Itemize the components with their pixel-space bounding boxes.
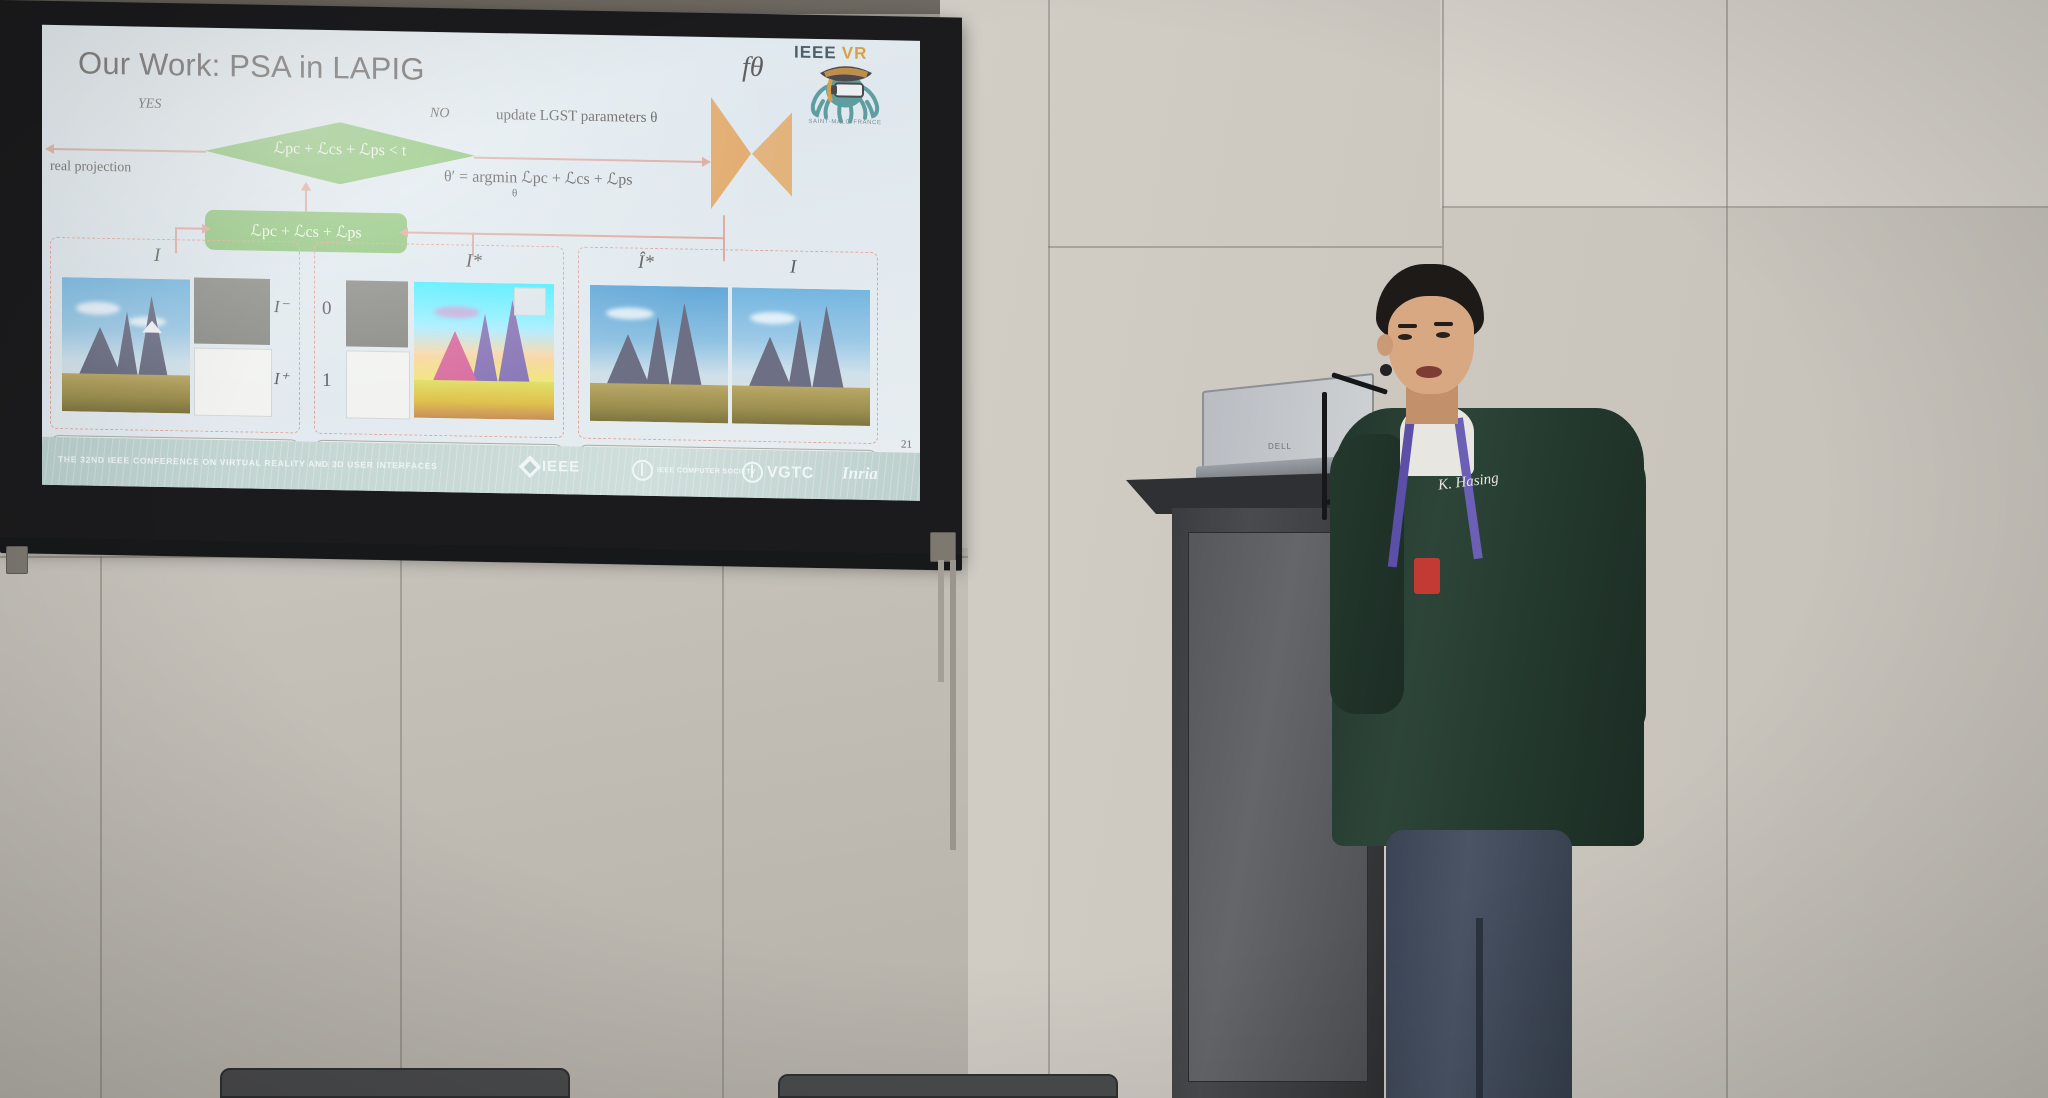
ref-foreground <box>732 385 870 426</box>
encoder-triangle-icon <box>711 97 751 210</box>
input-image-thumb <box>62 277 190 413</box>
screen-bracket-right <box>930 532 956 562</box>
presenter-arm-right <box>1566 438 1646 738</box>
autoencoder-glyph <box>711 97 793 211</box>
projection-label-zero: 0 <box>322 298 332 320</box>
wall-seam-l2 <box>400 552 402 1098</box>
wall-seam-3 <box>1726 0 1728 1098</box>
loss-to-diamond-head-icon <box>301 182 311 191</box>
presenter-arm-left <box>1330 434 1404 714</box>
objective-subscript: θ <box>512 187 517 199</box>
wall-seam-1 <box>1048 0 1050 1098</box>
wall-seam-l1 <box>100 556 102 1098</box>
conference-room-photo: Our Work: PSA in LAPIG IEEEVR <box>0 0 2048 1098</box>
no-branch-label: NO <box>430 106 449 122</box>
decision-condition-label: ℒpc + ℒcs + ℒps < t <box>205 137 475 162</box>
recon-image-thumb <box>590 285 728 424</box>
input-negative-mask <box>194 278 270 345</box>
sponsor-vgtc: VGTC <box>742 462 814 484</box>
panel-input-label-I: I <box>154 245 160 267</box>
presenter-mouth <box>1416 366 1442 378</box>
projection-inset-thumb <box>514 287 546 316</box>
yes-arrow-head-icon <box>45 144 54 154</box>
slide-canvas: Our Work: PSA in LAPIG IEEEVR <box>42 25 920 501</box>
decision-diamond: ℒpc + ℒcs + ℒps < t <box>205 120 475 187</box>
sponsor-inria-label: Inria <box>842 463 878 484</box>
no-arrow-head-icon <box>702 157 711 167</box>
computer-society-ring-icon <box>632 460 653 481</box>
presenter: K. Hasing <box>1330 258 1670 1098</box>
panel-recon-label-I: I <box>790 256 796 278</box>
panel-input-label-Ipos: I⁺ <box>274 369 289 389</box>
model-symbol-label: fθ <box>742 52 764 84</box>
yes-branch-label: YES <box>138 97 161 113</box>
sponsor-inria: Inria <box>842 463 878 484</box>
ieee-vr-logo: IEEEVR SAINT-MALO-FRANCE <box>786 42 904 126</box>
chair-right <box>778 1074 1118 1098</box>
yes-outcome-label: real projection <box>50 159 131 176</box>
objective-formula: θ′ = argmin ℒpc + ℒcs + ℒps <box>444 166 633 189</box>
presenter-leg-gap <box>1476 918 1483 1098</box>
sponsor-ieee-label: IEEE <box>542 458 580 476</box>
projection-label-one: 1 <box>322 370 332 392</box>
projection-upper-mask <box>346 280 408 347</box>
octopus-mascot-icon <box>786 56 904 124</box>
presenter-eye-left <box>1398 334 1412 340</box>
loss-in-head-icon <box>202 224 211 234</box>
projection-screen: Our Work: PSA in LAPIG IEEEVR <box>0 0 962 563</box>
thumb-foreground <box>62 374 190 414</box>
update-params-label: update LGST parameters θ <box>496 107 657 127</box>
presenter-brow-right <box>1434 322 1453 326</box>
slide-page-number: 21 <box>901 439 912 451</box>
wall-lower-left <box>0 548 968 1098</box>
ieee-diamond-icon <box>519 455 542 478</box>
wall-seam-h-2 <box>1048 246 1442 248</box>
wall-seam-l3 <box>722 550 724 1098</box>
logo-location-text: SAINT-MALO-FRANCE <box>786 118 904 126</box>
laptop-brand-label: DELL <box>1268 442 1292 451</box>
screen-bracket-left <box>6 546 28 574</box>
decoder-triangle-icon <box>752 112 792 197</box>
yes-arrow-line <box>54 148 206 153</box>
psy-foreground <box>414 380 554 421</box>
panel-input-label-Ineg: I⁻ <box>274 297 289 317</box>
presenter-face <box>1388 296 1474 394</box>
input-positive-mask <box>194 348 272 417</box>
presenter-ear <box>1377 334 1393 356</box>
panel-projection-label: I* <box>466 251 482 273</box>
conference-tagline: THE 32ND IEEE CONFERENCE ON VIRTUAL REAL… <box>58 454 437 471</box>
panel-recon-label-Ihat: Î* <box>638 252 654 274</box>
reference-image-thumb <box>732 287 870 426</box>
sponsor-computer-society: IEEE COMPUTER SOCIETY <box>632 460 756 483</box>
chair-left <box>220 1068 570 1098</box>
wall-seam-h-1 <box>1442 206 2048 208</box>
projection-lower-mask <box>346 350 410 419</box>
wall-panel-upper-right <box>1440 0 2048 208</box>
slide-footer-band: THE 32ND IEEE CONFERENCE ON VIRTUAL REAL… <box>42 437 920 501</box>
slide-title: Our Work: PSA in LAPIG <box>78 45 425 87</box>
sponsor-vgtc-label: VGTC <box>767 464 814 483</box>
screen-support-pole <box>950 560 956 850</box>
recon-foreground <box>590 383 728 424</box>
feedback-line-top <box>407 231 725 239</box>
feedback-arrow-head-icon <box>399 227 408 237</box>
vgtc-ring-icon <box>742 462 763 483</box>
presenter-brow-left <box>1398 324 1417 328</box>
screen-support-pole-2 <box>938 560 944 682</box>
sponsor-ieee: IEEE <box>522 458 580 476</box>
no-arrow-line <box>474 157 706 164</box>
presenter-badge <box>1414 558 1440 594</box>
presenter-eye-right <box>1436 332 1450 338</box>
